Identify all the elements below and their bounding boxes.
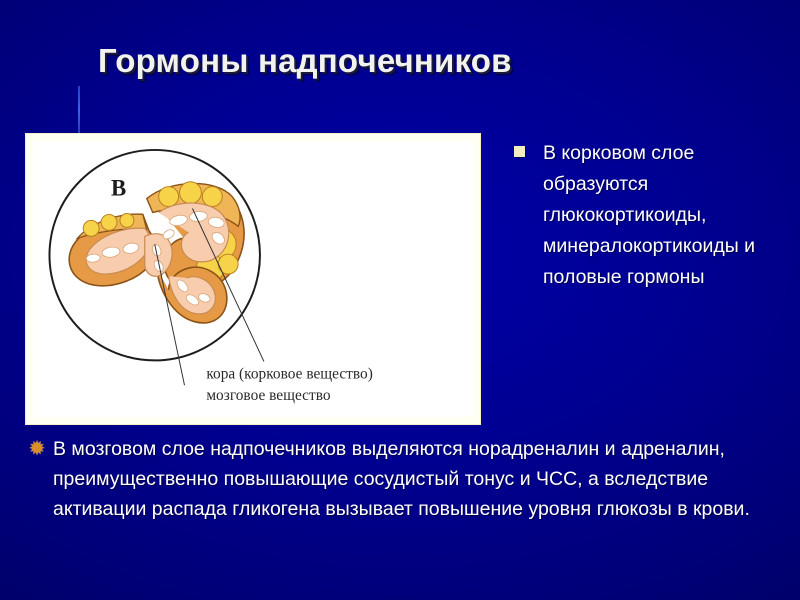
adrenal-gland-diagram: В — [33, 141, 473, 417]
square-bullet-icon — [514, 146, 525, 157]
medulla-bullet-text: В мозговом слое надпочечников выделяются… — [53, 434, 776, 524]
figure-panel: В — [25, 133, 481, 425]
figure-canvas: В — [33, 141, 473, 417]
cortex-bullet-block: В корковом слое образуются глюкокортикои… — [514, 138, 798, 293]
accent-line-decoration — [78, 86, 80, 134]
cortex-bullet-text: В корковом слое образуются глюкокортикои… — [543, 138, 798, 293]
presentation-slide: Гормоны надпочечников В — [0, 0, 800, 600]
figure-letter-label: В — [111, 176, 126, 201]
page-title: Гормоны надпочечников — [98, 42, 698, 80]
medulla-bullet-block: ✹ В мозговом слое надпочечников выделяют… — [26, 434, 776, 524]
sunburst-bullet-icon: ✹ — [26, 438, 48, 460]
callout-label-medulla: мозговое вещество — [206, 387, 331, 404]
callout-label-cortex: кора (корковое вещество) — [206, 365, 373, 382]
